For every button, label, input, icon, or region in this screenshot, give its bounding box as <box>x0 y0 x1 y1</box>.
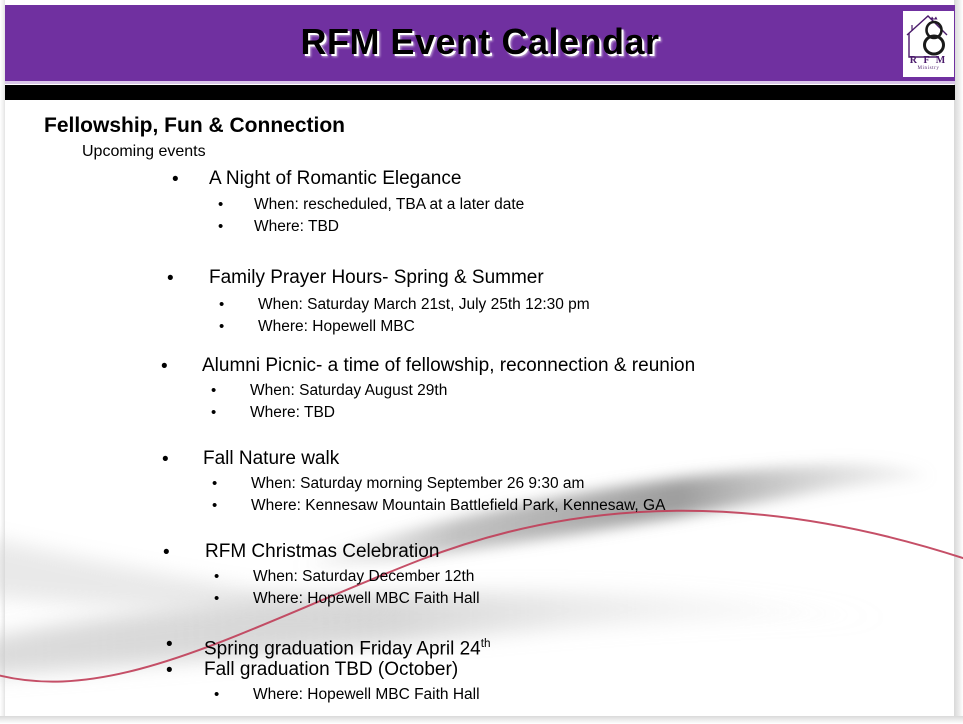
event-title-text: Fall Nature walk <box>203 448 339 470</box>
event-detail-text: When: Saturday March 21st, July 25th 12:… <box>258 295 590 315</box>
frame-top-edge <box>0 0 963 4</box>
event-title: • Fall Nature walk <box>162 448 339 470</box>
bullet-icon: • <box>219 317 229 337</box>
header-black-bar <box>5 85 955 100</box>
event-title-text: Alumni Picnic- a time of fellowship, rec… <box>202 355 695 377</box>
event-detail-text: Where: Hopewell MBC Faith Hall <box>253 589 480 609</box>
event-detail: • When: Saturday August 29th <box>211 381 447 401</box>
event-detail-text: Where: Hopewell MBC <box>258 317 415 337</box>
section-heading: Fellowship, Fun & Connection <box>44 114 345 138</box>
graduation-detail-text: Where: Hopewell MBC Faith Hall <box>253 685 480 705</box>
event-detail: • Where: Hopewell MBC Faith Hall <box>214 589 480 609</box>
graduation-detail: • Where: Hopewell MBC Faith Hall <box>214 685 480 705</box>
bullet-icon: • <box>166 634 178 656</box>
event-detail: • When: Saturday March 21st, July 25th 1… <box>219 295 590 315</box>
event-detail: • When: Saturday December 12th <box>214 567 474 587</box>
event-title: • RFM Christmas Celebration <box>163 541 439 563</box>
bullet-icon: • <box>172 169 184 191</box>
spring-graduation-text: Spring graduation Friday April 24 <box>204 638 481 659</box>
event-detail: • When: rescheduled, TBA at a later date <box>218 195 524 215</box>
page-title: RFM Event Calendar <box>5 21 955 63</box>
event-title: • Alumni Picnic- a time of fellowship, r… <box>161 355 695 377</box>
event-detail-text: When: Saturday August 29th <box>250 381 447 401</box>
event-title: • Family Prayer Hours- Spring & Summer <box>167 267 544 289</box>
logo-subtitle: Ministry <box>903 66 954 71</box>
event-detail: • Where: TBD <box>218 217 339 237</box>
fall-graduation-line: • Fall graduation TBD (October) <box>166 659 458 681</box>
event-title-text: Family Prayer Hours- Spring & Summer <box>209 267 544 289</box>
bullet-icon: • <box>214 685 224 705</box>
slide-canvas: RFM Event Calendar R F M Ministry <box>0 0 963 724</box>
bullet-icon: • <box>163 542 175 564</box>
bullet-icon: • <box>212 474 222 494</box>
event-detail-text: Where: TBD <box>254 217 339 237</box>
event-detail: • Where: TBD <box>211 403 335 423</box>
bullet-icon: • <box>211 381 221 401</box>
bullet-icon: • <box>214 567 224 587</box>
bullet-icon: • <box>211 403 221 423</box>
event-detail-text: When: rescheduled, TBA at a later date <box>254 195 524 215</box>
rfm-ministry-logo: R F M Ministry <box>902 10 955 78</box>
bullet-icon: • <box>218 217 228 237</box>
spring-graduation-line: • Spring graduation Friday April 24th <box>166 633 491 660</box>
spring-graduation-ordinal: th <box>481 637 491 650</box>
bullet-icon: • <box>162 449 174 471</box>
bullet-icon: • <box>166 660 178 682</box>
event-detail: • When: Saturday morning September 26 9:… <box>212 474 584 494</box>
header-rule <box>5 81 955 84</box>
bullet-icon: • <box>218 195 228 215</box>
event-detail-text: When: Saturday December 12th <box>253 567 474 587</box>
fall-graduation-text: Fall graduation TBD (October) <box>204 659 458 681</box>
logo-initials: R F M <box>903 55 954 66</box>
sub-heading: Upcoming events <box>82 143 206 161</box>
event-title-text: A Night of Romantic Elegance <box>209 168 461 190</box>
bullet-icon: • <box>212 496 222 516</box>
bullet-icon: • <box>219 295 229 315</box>
slide-content: Fellowship, Fun & Connection Upcoming ev… <box>0 100 963 724</box>
bullet-icon: • <box>161 356 173 378</box>
event-detail-text: When: Saturday morning September 26 9:30… <box>251 474 584 494</box>
bullet-icon: • <box>167 268 179 290</box>
event-title-text: RFM Christmas Celebration <box>205 541 439 563</box>
bullet-icon: • <box>214 589 224 609</box>
header-band: RFM Event Calendar <box>5 5 955 81</box>
event-detail-text: Where: TBD <box>250 403 335 423</box>
event-detail: • Where: Hopewell MBC <box>219 317 415 337</box>
event-detail: • Where: Kennesaw Mountain Battlefield P… <box>212 496 665 516</box>
event-detail-text: Where: Kennesaw Mountain Battlefield Par… <box>251 496 665 516</box>
event-title: • A Night of Romantic Elegance <box>172 168 461 190</box>
